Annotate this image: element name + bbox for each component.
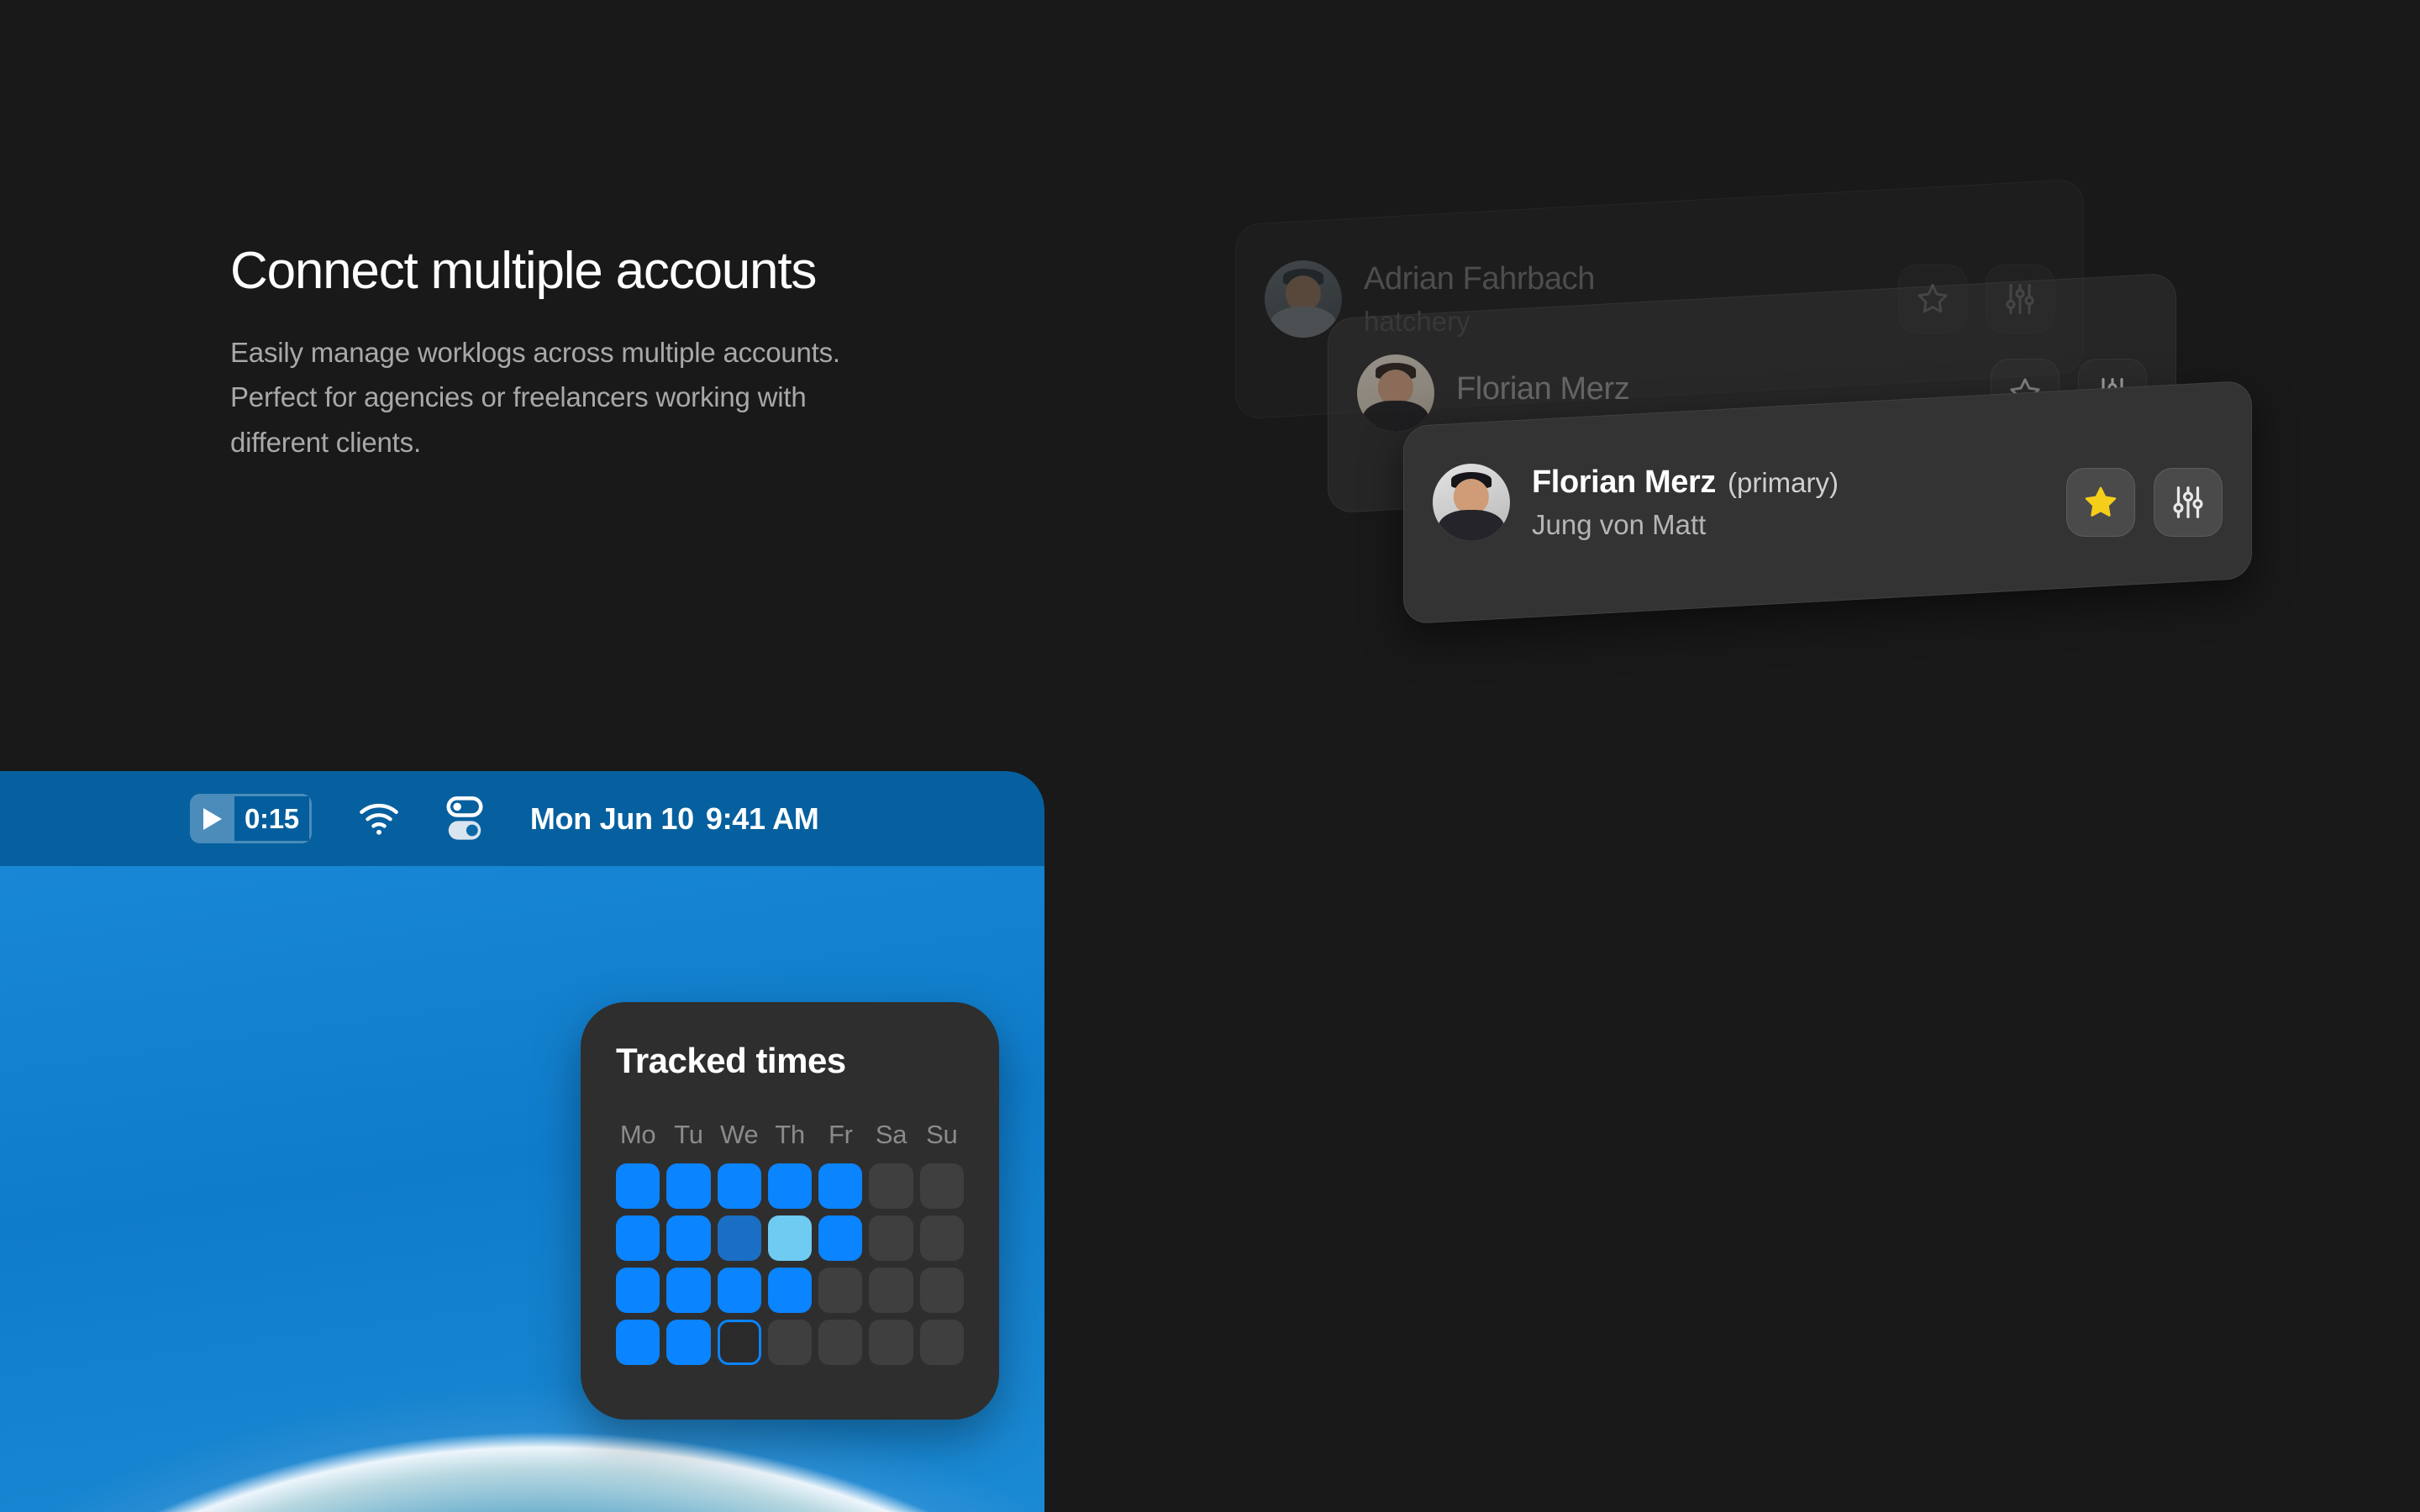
tracked-day-cell — [818, 1215, 862, 1261]
account-actions — [2066, 468, 2223, 537]
menubar-date: Mon Jun 10 — [530, 801, 694, 836]
tracked-day-cell — [869, 1268, 913, 1313]
avatar-adrian — [1265, 260, 1342, 338]
menubar-clock[interactable]: Mon Jun 109:41 AM — [530, 801, 819, 837]
tracked-day-cell — [818, 1320, 862, 1365]
tracked-day-cell — [718, 1215, 761, 1261]
tracked-day-cell — [666, 1268, 710, 1313]
tracked-times-grid — [616, 1163, 964, 1365]
play-icon[interactable] — [190, 794, 234, 843]
tracked-day-cell — [616, 1215, 660, 1261]
settings-button[interactable] — [2154, 468, 2223, 537]
tracked-times-widget[interactable]: Tracked times Mo Tu We Th Fr Sa Su — [581, 1002, 999, 1420]
tracked-day-cell — [768, 1163, 812, 1209]
feature-accounts-body: Easily manage worklogs across multiple a… — [230, 330, 1121, 465]
tracked-day-cell — [818, 1163, 862, 1209]
feature-accounts-title: Connect multiple accounts — [230, 244, 1121, 300]
account-primary-badge: (primary) — [1728, 467, 1839, 499]
menubar-items: 0:15 — [190, 794, 819, 843]
weekday-header-row: Mo Tu We Th Fr Sa Su — [616, 1120, 964, 1150]
account-name: Florian Merz — [1532, 465, 1716, 501]
control-center-icon[interactable] — [446, 796, 483, 842]
star-icon — [2081, 483, 2120, 522]
menubar-time: 9:41 AM — [706, 801, 819, 836]
weekday-label: Sa — [869, 1120, 913, 1150]
tracked-day-cell — [920, 1163, 964, 1209]
tracked-day-cell — [666, 1215, 710, 1261]
macos-menubar: 0:15 — [0, 771, 1044, 866]
desktop-wallpaper: Tracked times Mo Tu We Th Fr Sa Su — [0, 866, 1044, 1512]
feature-accounts-body-line-1: Easily manage worklogs across multiple a… — [230, 330, 1121, 375]
tracked-day-cell — [920, 1320, 964, 1365]
account-text-florian-primary: Florian Merz (primary) Jung von Matt — [1532, 465, 2046, 541]
tracked-day-cell — [768, 1215, 812, 1261]
account-card-stack: Adrian Fahrbach hatchery — [1235, 202, 2244, 563]
timer-elapsed: 0:15 — [234, 796, 309, 841]
wifi-icon[interactable] — [357, 802, 401, 836]
weekday-label: Tu — [666, 1120, 710, 1150]
tracked-day-cell — [869, 1320, 913, 1365]
feature-accounts-body-line-2: Perfect for agencies or freelancers work… — [230, 375, 1121, 419]
avatar-florian-primary — [1433, 464, 1510, 541]
weekday-label: Mo — [616, 1120, 660, 1150]
star-button[interactable] — [2066, 468, 2135, 537]
weekday-label: Su — [920, 1120, 964, 1150]
account-organization: Jung von Matt — [1532, 509, 2046, 541]
sliders-icon — [2169, 483, 2207, 522]
feature-connect-accounts: Connect multiple accounts Easily manage … — [230, 244, 1121, 465]
avatar-florian-secondary — [1357, 354, 1434, 432]
account-name: Adrian Fahrbach — [1364, 261, 1595, 297]
weekday-label: Th — [768, 1120, 812, 1150]
widget-title: Tracked times — [616, 1041, 964, 1081]
tracked-day-cell — [718, 1268, 761, 1313]
tracked-day-cell — [818, 1268, 862, 1313]
macos-desktop-panel: 0:15 — [0, 771, 1044, 1512]
tracked-day-cell — [666, 1320, 710, 1365]
tracked-day-cell — [920, 1215, 964, 1261]
account-name: Florian Merz — [1456, 371, 1629, 407]
tracked-day-cell — [768, 1268, 812, 1313]
tracked-day-cell — [616, 1163, 660, 1209]
tracked-day-cell — [718, 1320, 761, 1365]
tracked-day-cell — [616, 1320, 660, 1365]
tracked-day-cell — [869, 1163, 913, 1209]
feature-accounts-body-line-3: different clients. — [230, 420, 1121, 465]
tracked-day-cell — [920, 1268, 964, 1313]
tracked-day-cell — [666, 1163, 710, 1209]
weekday-label: Fr — [818, 1120, 862, 1150]
showcase-canvas: Connect multiple accounts Easily manage … — [0, 0, 2420, 1512]
weekday-label: We — [718, 1120, 761, 1150]
tracked-day-cell — [768, 1320, 812, 1365]
menubar-timer-widget[interactable]: 0:15 — [190, 794, 312, 843]
tracked-day-cell — [616, 1268, 660, 1313]
tracked-day-cell — [718, 1163, 761, 1209]
tracked-day-cell — [869, 1215, 913, 1261]
